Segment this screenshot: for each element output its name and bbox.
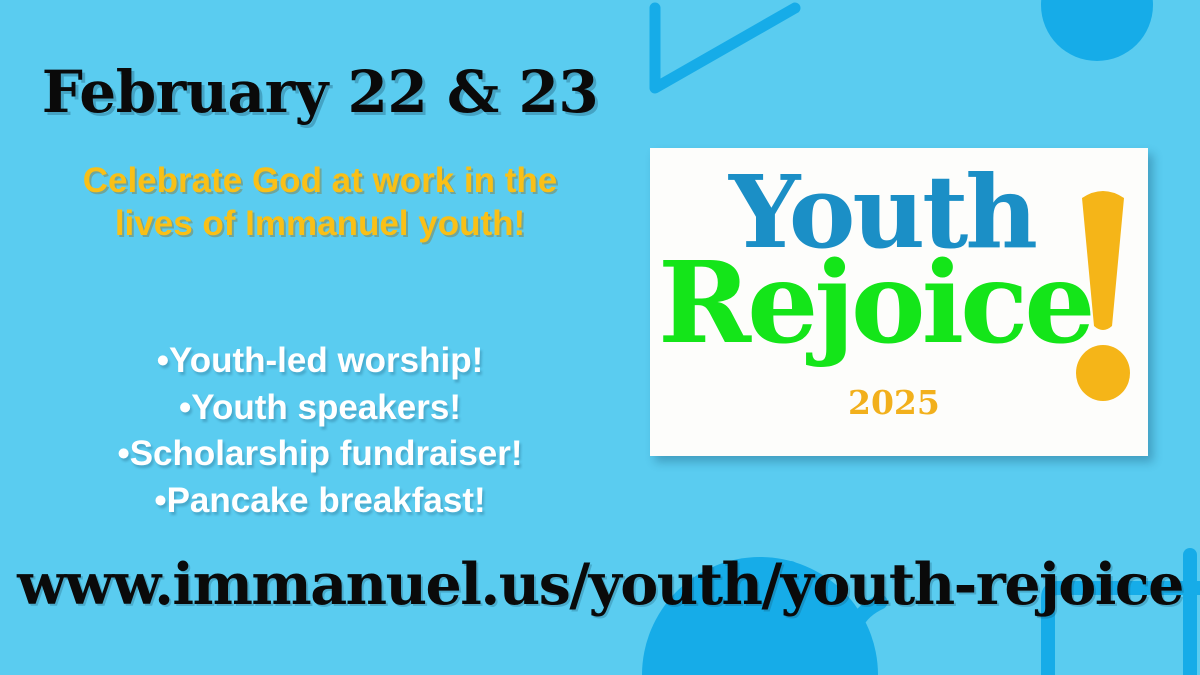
triangle-outline-shape xyxy=(655,8,795,88)
event-date-headline: February 22 & 23 xyxy=(0,62,640,122)
poster-canvas: February 22 & 23 Celebrate God at work i… xyxy=(0,0,1200,675)
logo-word-rejoice: Rejoice xyxy=(658,248,1088,360)
exclamation-mark-icon xyxy=(1068,188,1138,403)
text-column: February 22 & 23 Celebrate God at work i… xyxy=(0,0,640,560)
logo-artwork: Youth Rejoice 2025 xyxy=(650,148,1148,456)
event-subtitle: Celebrate God at work in the lives of Im… xyxy=(55,160,585,245)
list-item: •Pancake breakfast! xyxy=(30,478,610,525)
circle-shape-top-right xyxy=(1041,0,1153,61)
list-item: •Scholarship fundraiser! xyxy=(30,431,610,478)
website-url[interactable]: www.immanuel.us/youth/youth-rejoice xyxy=(0,556,1200,613)
logo-year-2025: 2025 xyxy=(848,386,940,419)
youth-rejoice-logo-card: Youth Rejoice 2025 xyxy=(650,148,1148,456)
list-item: •Youth-led worship! xyxy=(30,338,610,385)
event-highlights-list: •Youth-led worship! •Youth speakers! •Sc… xyxy=(30,338,610,524)
list-item: •Youth speakers! xyxy=(30,385,610,432)
